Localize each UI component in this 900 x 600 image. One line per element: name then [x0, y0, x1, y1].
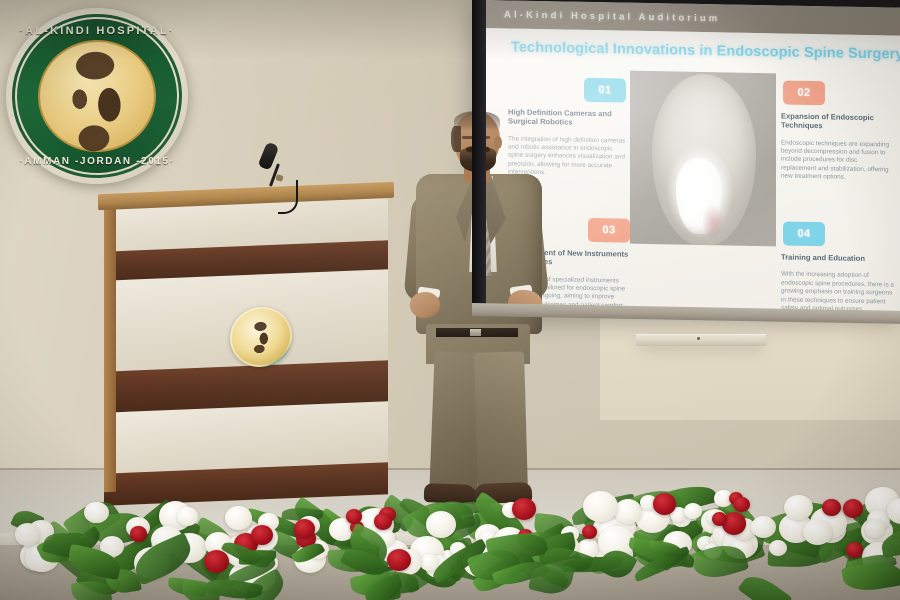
fixture-screw [697, 337, 700, 340]
presenter-sideburn [451, 126, 461, 152]
white-bloom [751, 516, 776, 538]
endoscopic-spine-image [630, 71, 776, 247]
block-badge-03: 03 [588, 218, 630, 243]
red-rose [374, 513, 392, 530]
slide-title: Technological Innovations in Endoscopic … [511, 39, 881, 62]
block-heading-04: Training and Education [781, 252, 895, 263]
al-kindi-portrait-icon [50, 46, 146, 159]
white-bloom [583, 491, 619, 522]
slide-block-02: 02 Expansion of Endoscopic Techniques En… [781, 80, 893, 183]
red-rose [346, 509, 362, 524]
red-rose [512, 498, 535, 520]
red-rose [294, 519, 315, 539]
endoscope-tissue-tint [702, 204, 724, 240]
presenter-ear [494, 136, 502, 149]
white-bloom [225, 506, 252, 530]
lectern-seal-portrait-icon [247, 320, 275, 355]
white-bloom [84, 502, 109, 524]
auditorium-presentation-scene: ·AL-KINDI HOSPITAL· ·AMMAN -JORDAN -2015… [0, 0, 900, 600]
seal-top-text: ·AL-KINDI HOSPITAL· [6, 25, 188, 37]
wall-mounted-light [636, 334, 766, 346]
red-rose [653, 493, 676, 514]
block-body-02: Endoscopic techniques are expanding beyo… [781, 139, 893, 183]
lectern-left-edge [104, 202, 116, 492]
white-bloom [803, 519, 832, 544]
white-bloom [15, 523, 40, 545]
block-badge-02: 02 [783, 80, 825, 105]
stage-floral-garland [0, 452, 900, 600]
red-rose [846, 542, 862, 557]
seal-bottom-text: ·AMMAN -JORDAN -2015· [6, 156, 188, 167]
white-bloom [784, 495, 813, 520]
block-heading-02: Expansion of Endoscopic Techniques [781, 111, 893, 132]
red-rose [130, 526, 147, 541]
hospital-wall-logo: ·AL-KINDI HOSPITAL· ·AMMAN -JORDAN -2015… [6, 8, 188, 184]
block-badge-01: 01 [584, 78, 626, 103]
presenter-belt-buckle [470, 329, 481, 336]
white-bloom [177, 507, 198, 525]
venue-header-label: Al-Kindi Hospital Auditorium [504, 9, 720, 24]
slide-block-04: 04 Training and Education With the incre… [781, 221, 895, 315]
white-bloom [426, 511, 457, 538]
foliage-leaf-front [737, 568, 792, 600]
block-badge-04: 04 [783, 221, 825, 246]
screen-left-border [472, 0, 486, 316]
white-bloom [614, 499, 642, 524]
